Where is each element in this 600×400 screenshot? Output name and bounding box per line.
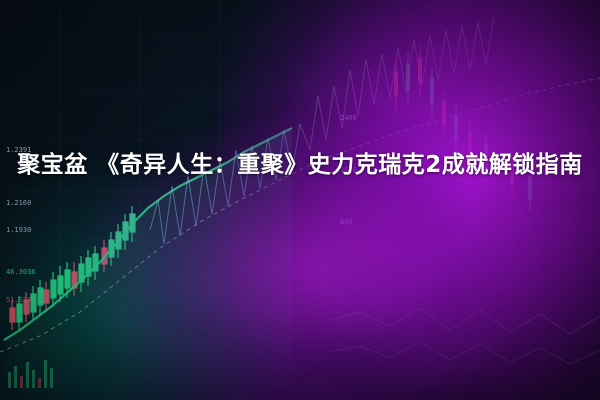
screenshot-root: 1.2391 1.2160 1.1930 46.3036 51.638 2400… bbox=[0, 0, 600, 400]
svg-text:1.2160: 1.2160 bbox=[6, 199, 31, 207]
svg-text:800: 800 bbox=[340, 218, 353, 226]
svg-text:51.638: 51.638 bbox=[6, 296, 31, 304]
svg-text:46.3036: 46.3036 bbox=[6, 268, 36, 276]
svg-text:2400: 2400 bbox=[340, 114, 357, 122]
svg-text:1.1930: 1.1930 bbox=[6, 226, 31, 234]
caption-text: 聚宝盆 《奇异人生：重聚》史力克瑞克2成就解锁指南 bbox=[0, 148, 600, 184]
background-chart: 1.2391 1.2160 1.1930 46.3036 51.638 2400… bbox=[0, 0, 600, 400]
